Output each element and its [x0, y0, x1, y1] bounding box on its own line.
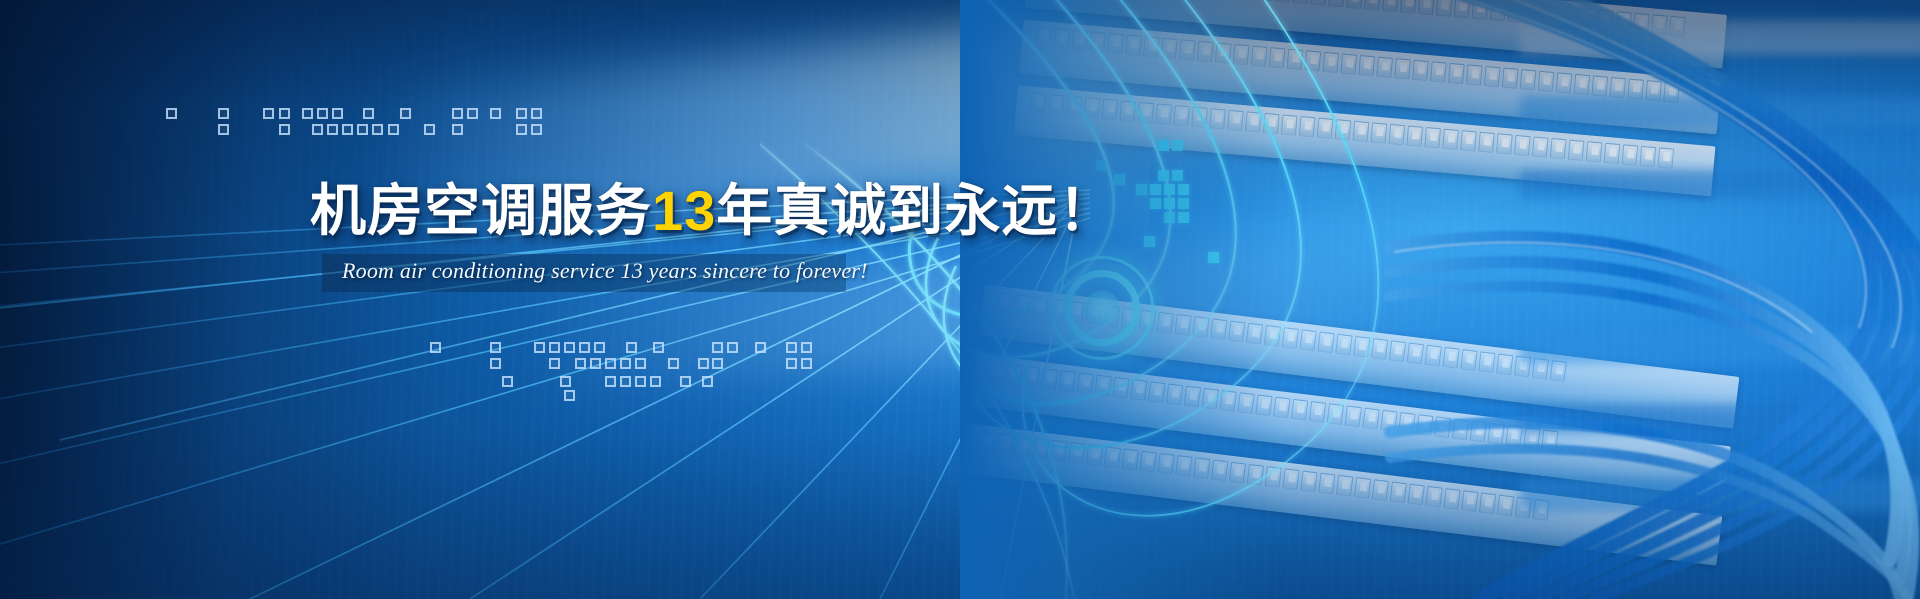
headline-part-two: 年真诚到永远！	[716, 179, 1115, 242]
headline-years-number: 13	[652, 179, 716, 242]
page-title: 机房空调服务13年真诚到永远！	[310, 166, 1115, 247]
hero-banner: 机房空调服务13年真诚到永远！ Room air conditioning se…	[0, 0, 1920, 599]
server-rack-imagery	[960, 0, 1920, 599]
headline-part-one: 机房空调服务	[310, 179, 652, 242]
subtitle: Room air conditioning service 13 years s…	[342, 258, 868, 284]
